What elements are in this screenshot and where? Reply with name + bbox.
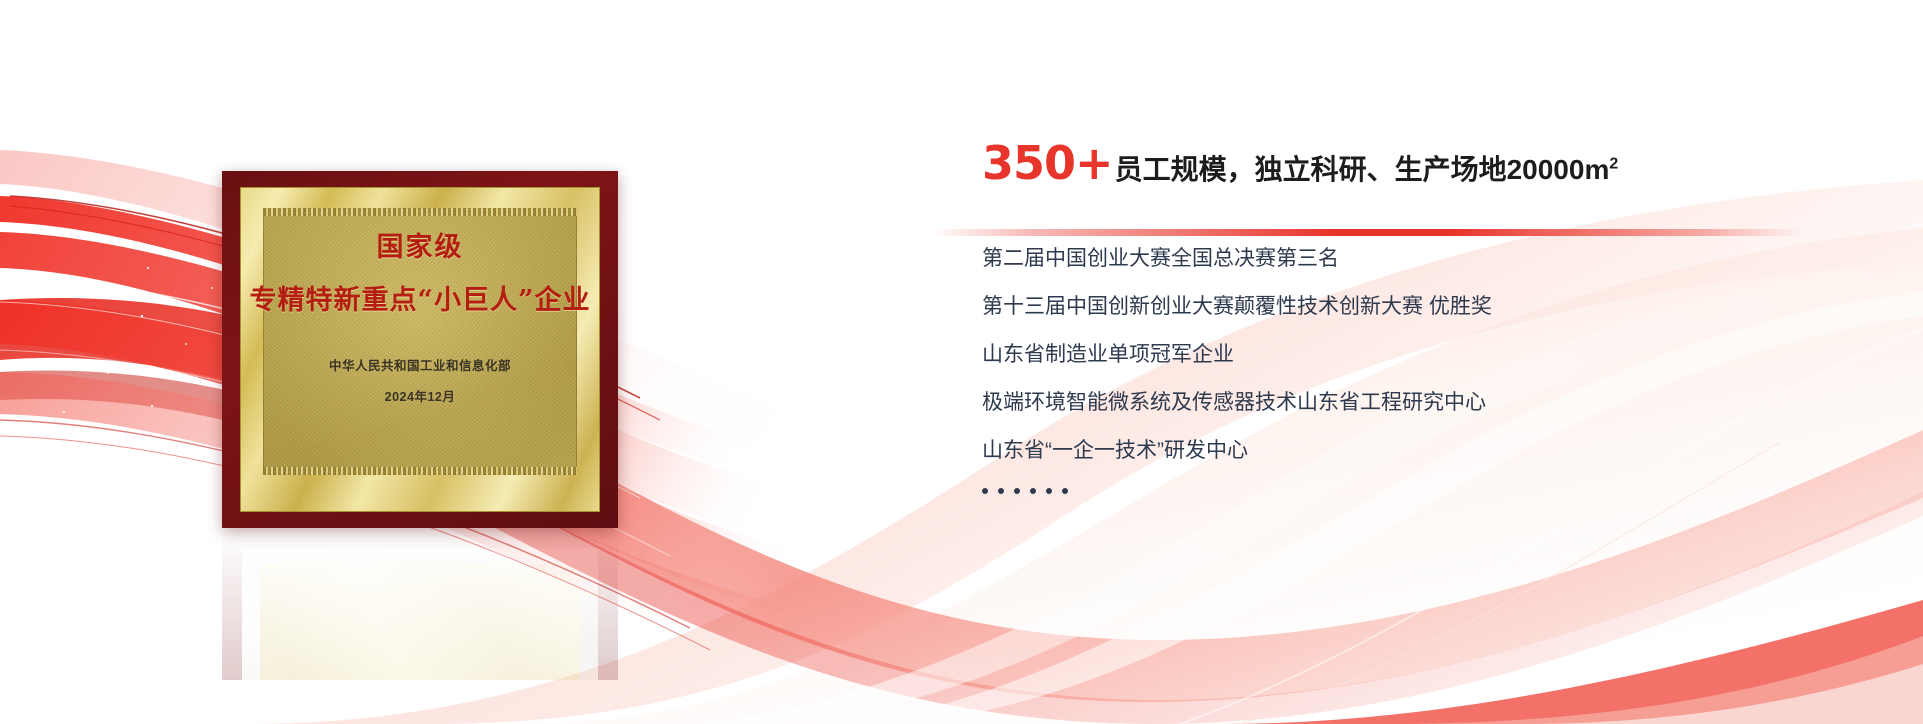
headline-description-text: 员工规模，独立科研、生产场地20000m <box>1115 154 1610 185</box>
headline-divider-rule <box>930 229 1800 236</box>
achievement-item: 第十三届中国创新创业大赛颠覆性技术创新大赛 优胜奖 <box>982 296 1842 317</box>
achievement-item: 第二届中国创业大赛全国总决赛第三名 <box>982 248 1842 269</box>
ellipsis-indicator <box>982 488 1842 494</box>
ellipsis-dot <box>1030 488 1036 494</box>
headline: 350+ 员工规模，独立科研、生产场地20000m2 <box>982 140 1842 186</box>
achievement-item: 山东省“一企一技术”研发中心 <box>982 440 1842 461</box>
achievement-item: 山东省制造业单项冠军企业 <box>982 344 1842 365</box>
headline-metric: 350+ <box>982 140 1113 186</box>
ellipsis-dot <box>1062 488 1068 494</box>
plaque-issuer: 中华人民共和国工业和信息化部 <box>329 355 511 374</box>
ellipsis-dot <box>1014 488 1020 494</box>
plaque-date: 2024年12月 <box>385 386 456 405</box>
achievement-list: 第二届中国创业大赛全国总决赛第三名 第十三届中国创新创业大赛颠覆性技术创新大赛 … <box>982 248 1842 461</box>
content-column: 350+ 员工规模，独立科研、生产场地20000m2 第二届中国创业大赛全国总决… <box>982 140 1842 494</box>
ellipsis-dot <box>1046 488 1052 494</box>
plaque-title-line1: 国家级 <box>377 225 464 264</box>
banner-stage: 国家级 专精特新重点“小巨人”企业 中华人民共和国工业和信息化部 2024年12… <box>0 0 1923 724</box>
award-plaque: 国家级 专精特新重点“小巨人”企业 中华人民共和国工业和信息化部 2024年12… <box>222 171 618 528</box>
headline-description: 员工规模，独立科研、生产场地20000m2 <box>1115 156 1619 184</box>
achievement-item: 极端环境智能微系统及传感器技术山东省工程研究中心 <box>982 392 1842 413</box>
ellipsis-dot <box>982 488 988 494</box>
plaque-inscription: 国家级 专精特新重点“小巨人”企业 中华人民共和国工业和信息化部 2024年12… <box>222 171 618 528</box>
headline-superscript: 2 <box>1609 156 1618 173</box>
ellipsis-dot <box>998 488 1004 494</box>
plaque-title-line2: 专精特新重点“小巨人”企业 <box>249 278 590 317</box>
